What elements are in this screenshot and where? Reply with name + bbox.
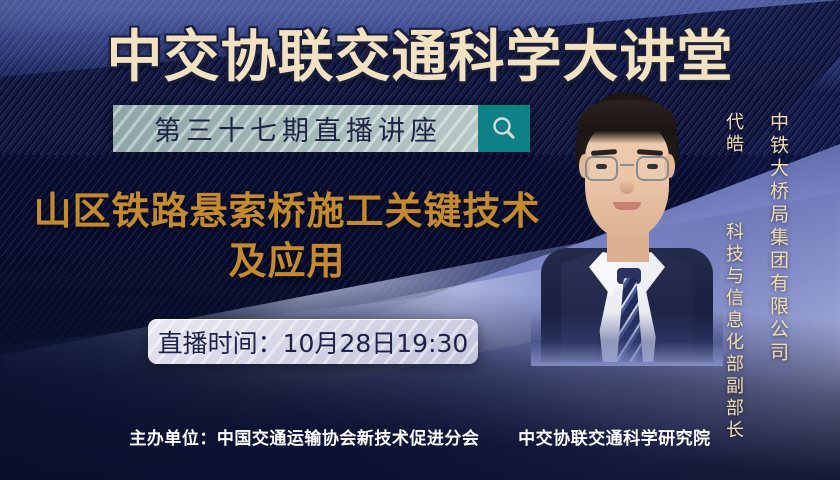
portrait-bottom-fade xyxy=(531,312,723,366)
footer-institute: 中交协联交通科学研究院 xyxy=(518,429,711,449)
glasses-lens-left xyxy=(585,156,618,181)
speaker-organization: 中铁大桥局集团有限公司 xyxy=(765,112,792,365)
speaker-portrait xyxy=(541,92,713,362)
broadcast-time-badge: 直播时间：10月28日19:30 xyxy=(148,319,478,364)
portrait-mouth xyxy=(613,202,641,210)
page-title: 中交协联交通科学大讲堂 xyxy=(0,12,840,93)
footer-organizers: 主办单位：中国交通运输协会新技术促进分会 中交协联交通科学研究院 xyxy=(0,424,840,449)
speaker-name: 代皓 xyxy=(723,112,744,156)
lecture-title-line-1: 山区铁路悬索桥施工关键技术 xyxy=(22,186,552,236)
portrait-fringe xyxy=(577,100,677,144)
speaker-credit: 代皓 科技与信息化部副部长 xyxy=(720,112,746,442)
speaker-title: 科技与信息化部副部长 xyxy=(723,222,744,442)
broadcast-time-text: 直播时间：10月28日19:30 xyxy=(158,324,469,360)
episode-banner: 第三十七期直播讲座 xyxy=(113,105,530,152)
lecture-title: 山区铁路悬索桥施工关键技术 及应用 xyxy=(22,186,552,286)
glasses-bridge xyxy=(620,164,634,166)
footer-organizer-label: 主办单位：中国交通运输协会新技术促进分会 xyxy=(129,429,479,449)
episode-banner-body: 第三十七期直播讲座 xyxy=(113,105,478,152)
portrait-nose xyxy=(620,180,634,194)
poster-canvas: 中交协联交通科学大讲堂 第三十七期直播讲座 山区铁路悬索桥施工关键技术 及应用 … xyxy=(0,0,840,480)
glasses-lens-right xyxy=(636,156,669,181)
search-icon[interactable] xyxy=(478,105,530,152)
episode-label: 第三十七期直播讲座 xyxy=(149,109,442,148)
lecture-title-line-2: 及应用 xyxy=(22,236,552,286)
